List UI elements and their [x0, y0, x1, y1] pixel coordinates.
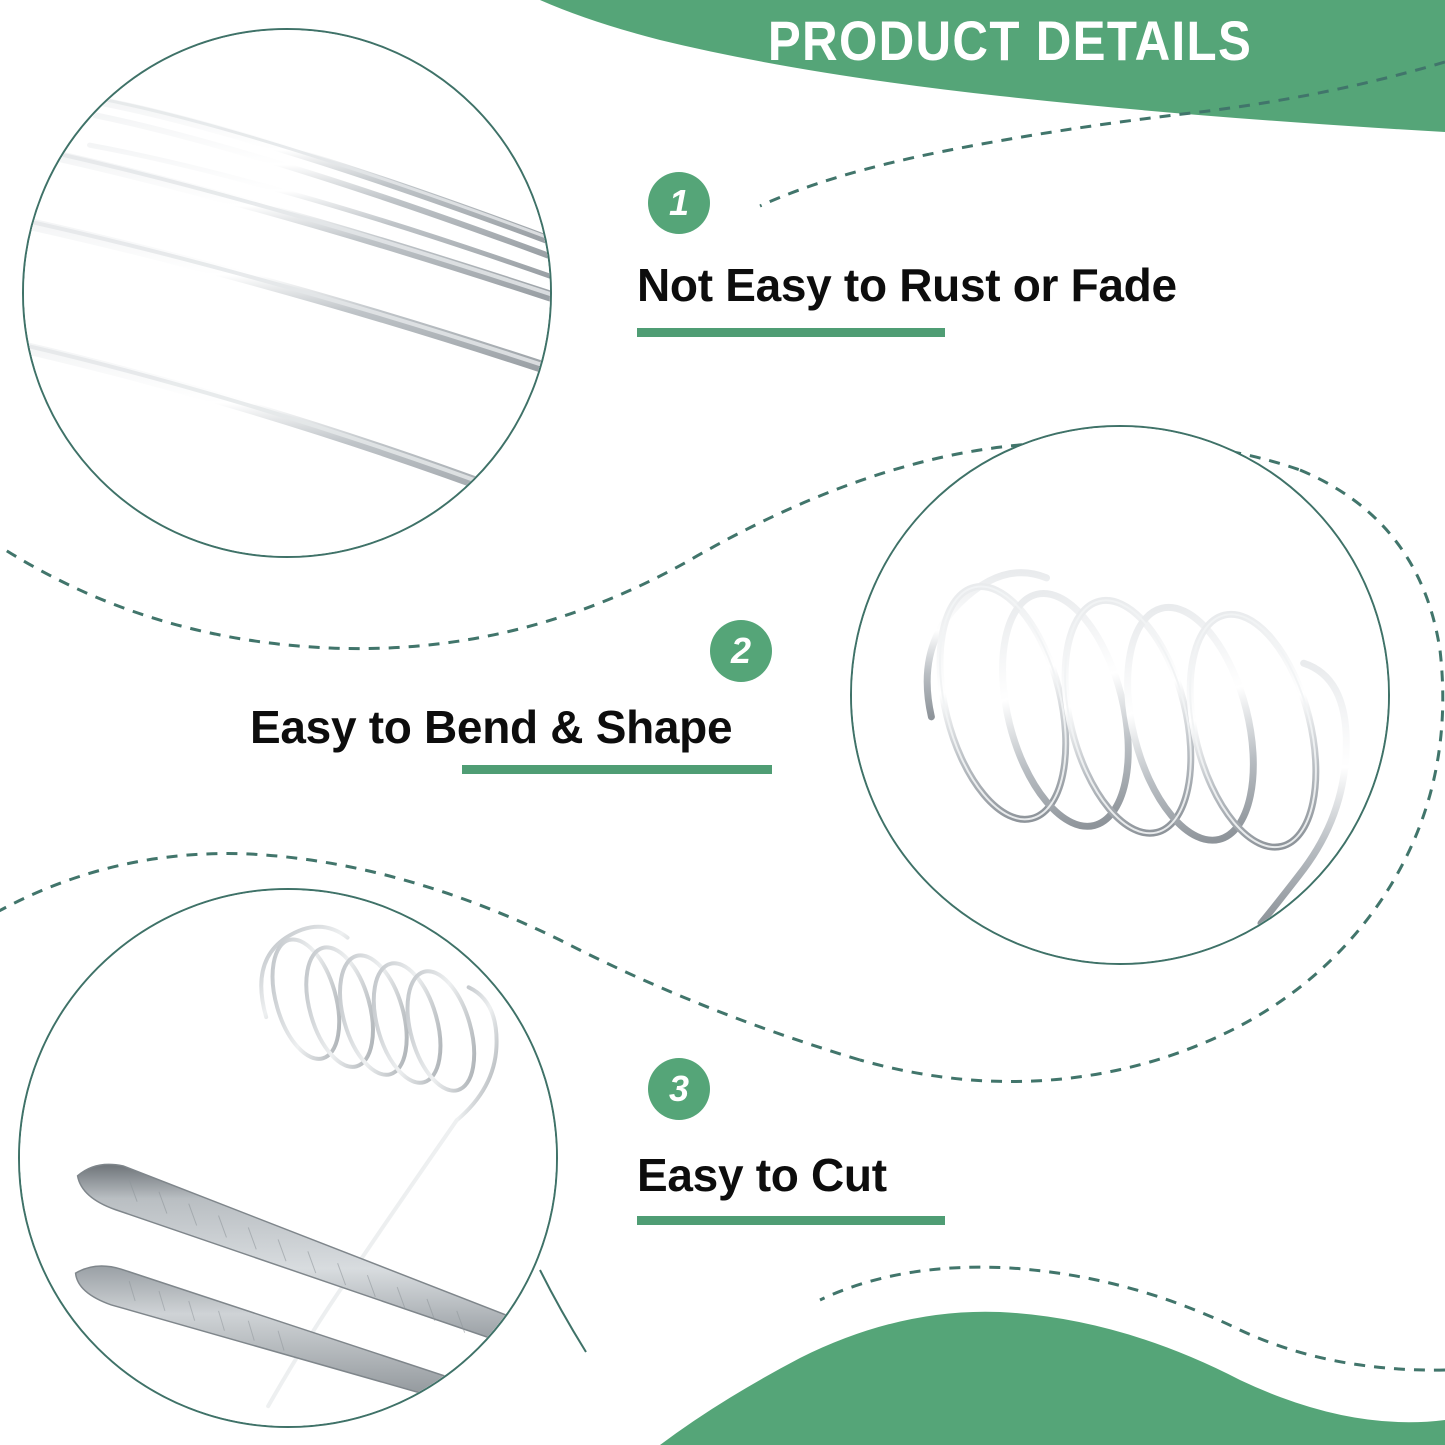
feature-underline-3: [637, 1216, 945, 1225]
feature-number-badge-3: 3: [648, 1058, 710, 1120]
feature-number-badge-1: 1: [648, 172, 710, 234]
feature-underline-2: [462, 765, 772, 774]
text-layer: PRODUCT DETAILS 1 Not Easy to Rust or Fa…: [0, 0, 1445, 1445]
feature-headline-2: Easy to Bend & Shape: [250, 700, 732, 754]
product-details-infographic: PRODUCT DETAILS 1 Not Easy to Rust or Fa…: [0, 0, 1445, 1445]
feature-underline-1: [637, 328, 945, 337]
feature-headline-3: Easy to Cut: [637, 1148, 887, 1202]
page-title: PRODUCT DETAILS: [649, 8, 1371, 73]
feature-headline-1: Not Easy to Rust or Fade: [637, 258, 1177, 312]
feature-number-badge-2: 2: [710, 620, 772, 682]
